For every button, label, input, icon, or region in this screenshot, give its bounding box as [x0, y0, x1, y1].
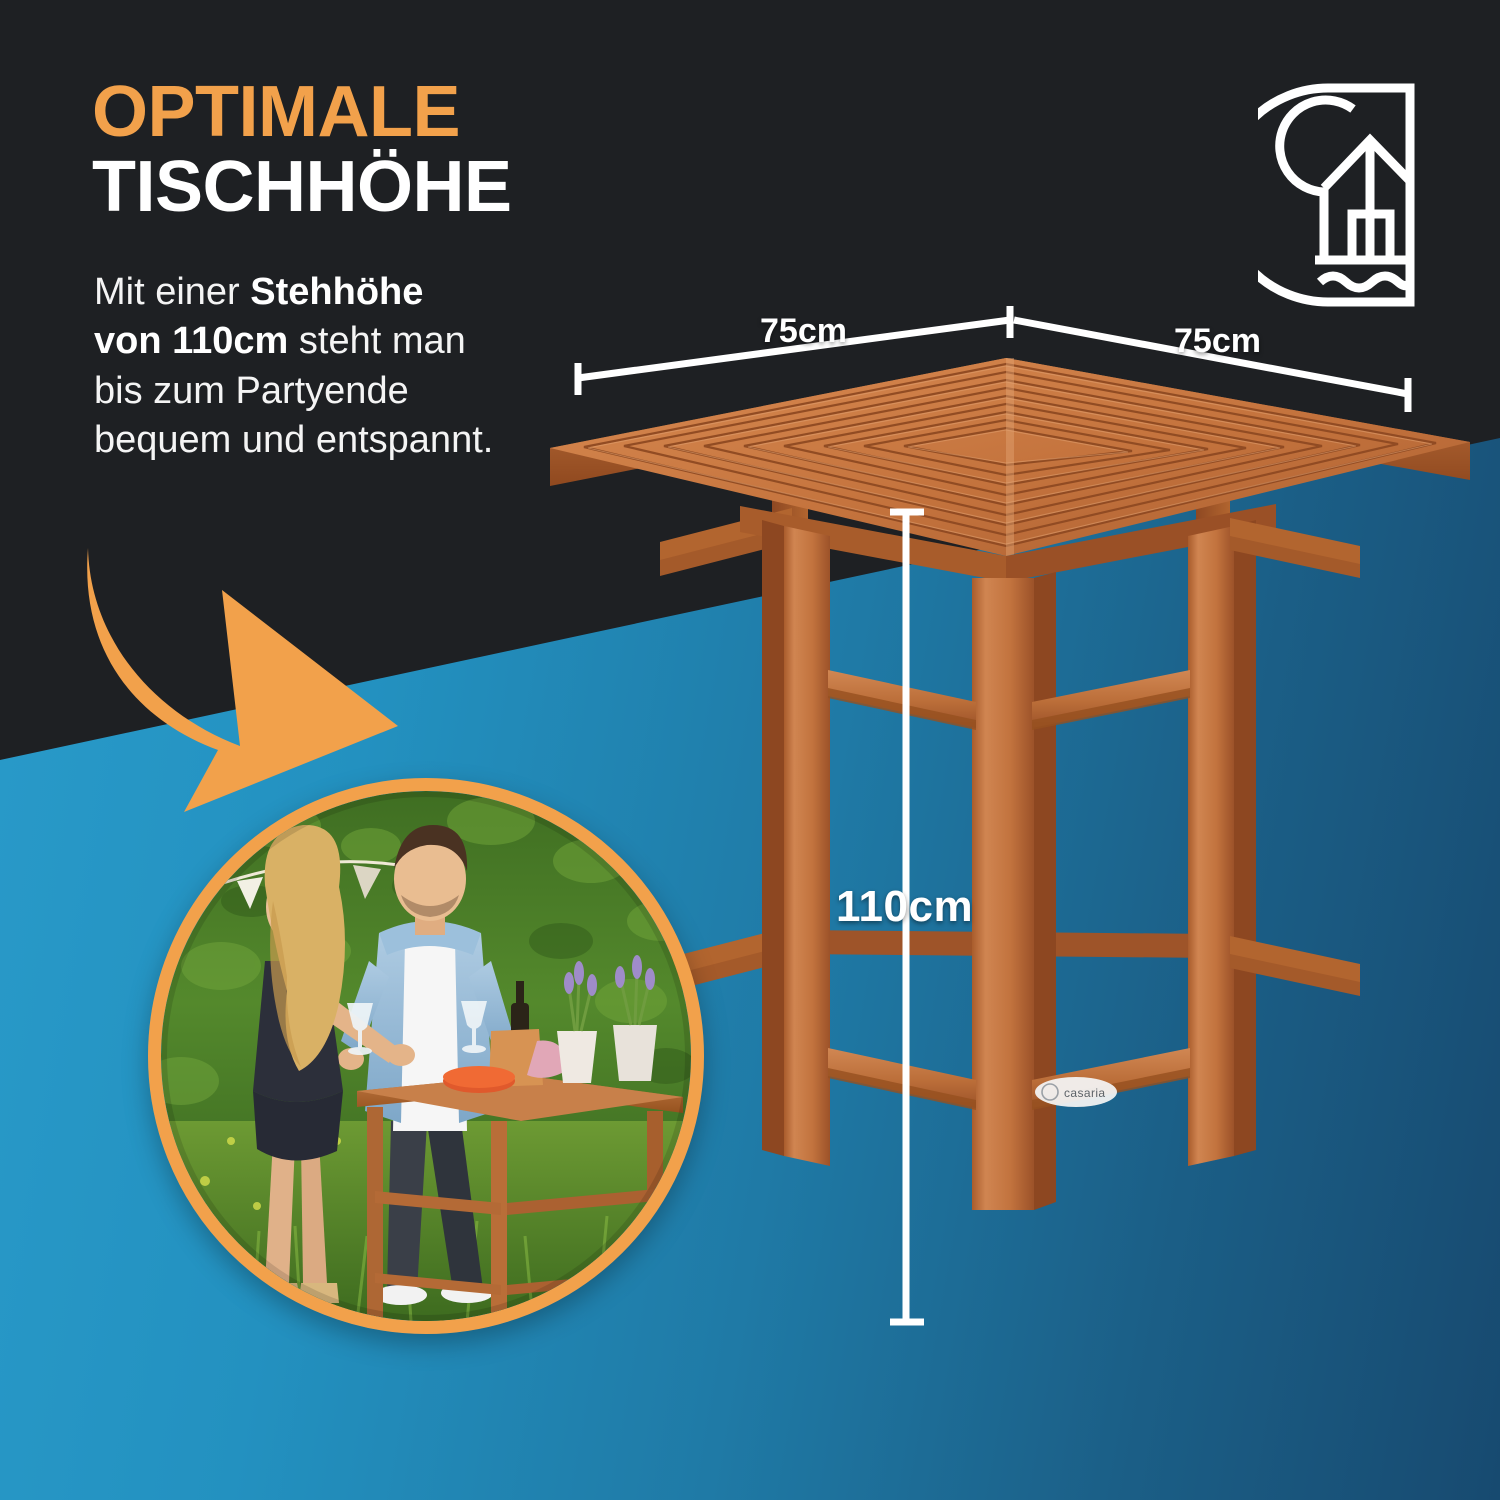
page-title: OPTIMALE TISCHHÖHE — [92, 78, 512, 222]
brand-logo — [1258, 82, 1428, 308]
dimension-label-width-left: 75cm — [760, 312, 847, 351]
table-front-left-leg — [762, 520, 830, 1166]
dimension-label-width-right: 75cm — [1174, 322, 1261, 361]
infographic-stage: casaria 75cm 75cm 110cm OPTIMALE TISCHHÖ… — [0, 0, 1500, 1500]
dimension-label-height: 110cm — [836, 882, 973, 932]
brand-sticker-casaria: casaria — [1035, 1077, 1117, 1107]
body-copy: Mit einer Stehhöhe von 110cm steht man b… — [94, 268, 494, 466]
curved-arrow-icon — [72, 540, 422, 825]
headline-line-1: OPTIMALE — [92, 78, 512, 147]
body-copy-part-1: Mit einer — [94, 271, 250, 313]
svg-text:casaria: casaria — [1064, 1086, 1105, 1100]
lifestyle-photo-circle — [148, 778, 704, 1334]
product-image-bar-table: casaria — [540, 330, 1480, 1350]
headline-line-2: TISCHHÖHE — [92, 153, 512, 222]
table-front-right-leg — [1188, 520, 1256, 1166]
table-front-center-leg — [972, 572, 1056, 1210]
